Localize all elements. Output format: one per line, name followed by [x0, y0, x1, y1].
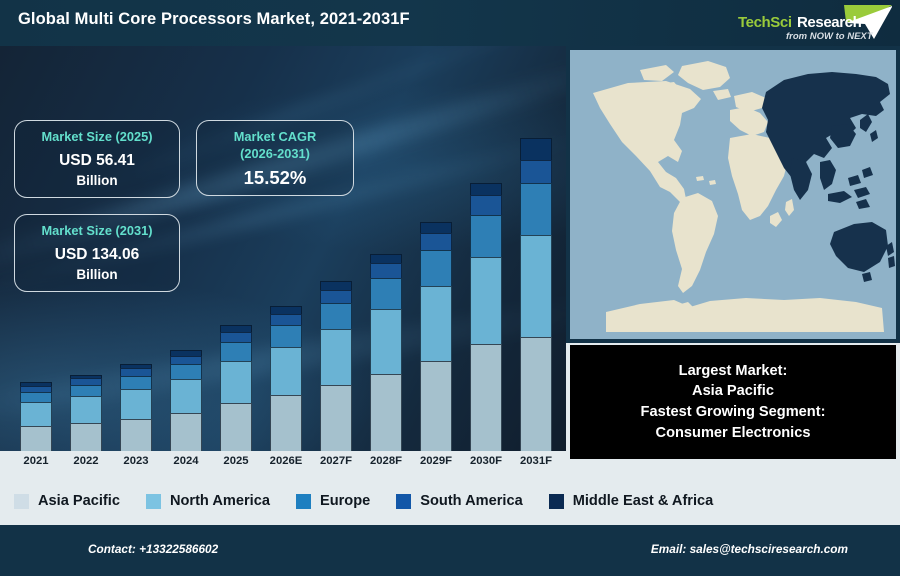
- header-bar: Global Multi Core Processors Market, 202…: [0, 0, 900, 46]
- market-size-2025-card: Market Size (2025) USD 56.41 Billion: [14, 120, 180, 198]
- bar-2031F: [520, 138, 552, 451]
- bar-segment-north-america: [420, 286, 452, 361]
- legend-swatch: [296, 494, 311, 509]
- legend-item-south-america[interactable]: South America: [396, 493, 522, 509]
- card-label: Market Size (2031): [15, 223, 179, 240]
- bar-segment-south-america: [220, 332, 252, 342]
- legend-item-europe[interactable]: Europe: [296, 493, 370, 509]
- chart-panel: Market Size (2025) USD 56.41 Billion Mar…: [0, 46, 566, 451]
- bar-segment-asia-pacific: [520, 337, 552, 451]
- bar-segment-europe: [370, 278, 402, 309]
- bar-segment-middle-east-africa: [270, 306, 302, 314]
- world-map: [566, 46, 900, 343]
- bar-2029F: [420, 222, 452, 451]
- x-tick-2029F: 2029F: [410, 455, 462, 467]
- bar-segment-asia-pacific: [320, 385, 352, 451]
- bar-segment-south-america: [270, 314, 302, 325]
- bar-2025: [220, 325, 252, 451]
- bar-segment-asia-pacific: [220, 403, 252, 451]
- bar-segment-south-america: [120, 368, 152, 375]
- bar-2028F: [370, 254, 402, 451]
- bar-2022: [70, 375, 102, 451]
- chart-legend: Asia PacificNorth AmericaEuropeSouth Ame…: [0, 477, 900, 525]
- card-value: USD 134.06: [15, 245, 179, 264]
- bar-segment-north-america: [520, 235, 552, 337]
- svg-text:TechSci: TechSci: [738, 14, 792, 31]
- bar-segment-north-america: [270, 347, 302, 395]
- bar-segment-north-america: [470, 257, 502, 344]
- bar-2026E: [270, 306, 302, 451]
- bar-segment-europe: [20, 392, 52, 402]
- bar-segment-middle-east-africa: [470, 183, 502, 195]
- bar-segment-middle-east-africa: [520, 138, 552, 159]
- svg-text:Research: Research: [797, 14, 862, 31]
- legend-label: Asia Pacific: [38, 493, 120, 509]
- card-label: Market Size (2025): [15, 129, 179, 146]
- legend-swatch: [396, 494, 411, 509]
- bar-segment-north-america: [370, 309, 402, 374]
- x-tick-2028F: 2028F: [360, 455, 412, 467]
- legend-swatch: [146, 494, 161, 509]
- legend-swatch: [14, 494, 29, 509]
- x-tick-2023: 2023: [110, 455, 162, 467]
- bar-segment-middle-east-africa: [420, 222, 452, 233]
- page-title: Global Multi Core Processors Market, 202…: [18, 10, 410, 29]
- legend-item-middle-east-africa[interactable]: Middle East & Africa: [549, 493, 714, 509]
- bar-2030F: [470, 183, 502, 451]
- techsci-research-logo: TechSci Research from NOW to NEXT: [724, 1, 896, 45]
- bar-segment-south-america: [170, 356, 202, 364]
- card-value: USD 56.41: [15, 151, 179, 170]
- x-tick-2021: 2021: [10, 455, 62, 467]
- bar-2024: [170, 350, 202, 451]
- bar-segment-north-america: [220, 361, 252, 403]
- bar-segment-europe: [420, 250, 452, 286]
- bar-segment-asia-pacific: [20, 426, 52, 451]
- bar-segment-europe: [120, 376, 152, 389]
- callout-line-2: Asia Pacific: [692, 381, 774, 402]
- bar-segment-middle-east-africa: [320, 281, 352, 290]
- callout-line-1: Largest Market:: [679, 361, 788, 382]
- bar-segment-north-america: [170, 379, 202, 413]
- legend-item-north-america[interactable]: North America: [146, 493, 270, 509]
- bar-segment-asia-pacific: [120, 419, 152, 451]
- x-tick-2022: 2022: [60, 455, 112, 467]
- bar-segment-asia-pacific: [70, 423, 102, 451]
- card-unit: Billion: [15, 173, 179, 188]
- bar-segment-europe: [320, 303, 352, 329]
- bar-segment-europe: [170, 364, 202, 380]
- bar-2023: [120, 364, 152, 451]
- bar-segment-asia-pacific: [170, 413, 202, 451]
- bar-segment-north-america: [70, 396, 102, 423]
- legend-label: South America: [420, 493, 522, 509]
- bar-segment-europe: [270, 325, 302, 348]
- x-tick-2026E: 2026E: [260, 455, 312, 467]
- bar-segment-europe: [220, 342, 252, 361]
- card-value: 15.52%: [197, 166, 353, 189]
- card-unit: Billion: [15, 267, 179, 282]
- x-tick-2027F: 2027F: [310, 455, 362, 467]
- bar-segment-middle-east-africa: [370, 254, 402, 264]
- callout-line-3: Fastest Growing Segment:: [641, 402, 826, 423]
- bar-segment-europe: [70, 385, 102, 397]
- bar-2021: [20, 382, 52, 451]
- svg-text:from NOW to NEXT: from NOW to NEXT: [786, 31, 874, 42]
- bar-segment-north-america: [320, 329, 352, 385]
- legend-label: North America: [170, 493, 270, 509]
- footer-bar: Contact: +13322586602 Email: sales@techs…: [0, 525, 900, 576]
- bar-segment-north-america: [120, 389, 152, 419]
- x-tick-2030F: 2030F: [460, 455, 512, 467]
- bar-segment-asia-pacific: [270, 395, 302, 451]
- bar-2027F: [320, 281, 352, 451]
- bar-segment-south-america: [420, 233, 452, 250]
- contact-email: Email: sales@techsciresearch.com: [651, 542, 848, 556]
- legend-item-asia-pacific[interactable]: Asia Pacific: [14, 493, 120, 509]
- card-label-line2: (2026-2031): [197, 146, 353, 163]
- bar-segment-asia-pacific: [370, 374, 402, 451]
- legend-label: Middle East & Africa: [573, 493, 714, 509]
- legend-swatch: [549, 494, 564, 509]
- bar-segment-middle-east-africa: [220, 325, 252, 332]
- bar-segment-asia-pacific: [470, 344, 502, 451]
- bar-segment-europe: [520, 183, 552, 235]
- contact-phone: Contact: +13322586602: [88, 542, 218, 556]
- market-size-2031-card: Market Size (2031) USD 134.06 Billion: [14, 214, 180, 292]
- bar-segment-europe: [470, 215, 502, 257]
- bar-segment-north-america: [20, 402, 52, 426]
- callout-box: Largest Market: Asia Pacific Fastest Gro…: [570, 345, 896, 459]
- bar-segment-south-america: [520, 160, 552, 183]
- x-axis: 202120222023202420252026E2027F2028F2029F…: [0, 451, 566, 477]
- x-tick-2031F: 2031F: [510, 455, 562, 467]
- legend-label: Europe: [320, 493, 370, 509]
- callout-line-4: Consumer Electronics: [656, 423, 811, 444]
- card-label-line1: Market CAGR: [197, 129, 353, 146]
- market-cagr-card: Market CAGR (2026-2031) 15.52%: [196, 120, 354, 196]
- x-tick-2025: 2025: [210, 455, 262, 467]
- bar-segment-south-america: [370, 263, 402, 278]
- bar-segment-south-america: [470, 195, 502, 215]
- bar-segment-asia-pacific: [420, 361, 452, 451]
- x-tick-2024: 2024: [160, 455, 212, 467]
- bar-segment-south-america: [320, 290, 352, 303]
